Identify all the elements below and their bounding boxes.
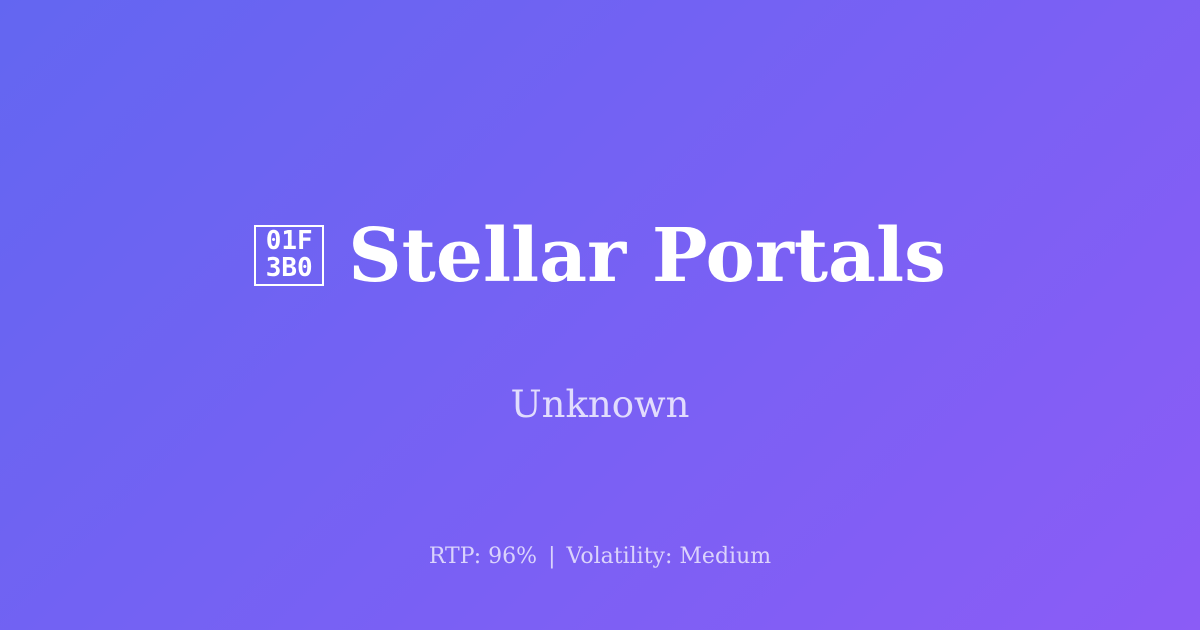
og-preview-card: 01F 3B0 Stellar Portals Unknown RTP: 96%…	[0, 0, 1200, 630]
page-title: Stellar Portals	[348, 219, 946, 293]
tofu-codepoint-bottom: 3B0	[266, 255, 313, 282]
game-stats-line: RTP: 96% | Volatility: Medium	[0, 546, 1200, 568]
stats-separator: |	[544, 544, 559, 569]
volatility-label: Volatility:	[567, 544, 673, 569]
provider-subtitle: Unknown	[510, 386, 689, 423]
slot-machine-emoji-icon: 01F 3B0	[254, 225, 324, 286]
tofu-codepoint-top: 01F	[266, 228, 313, 255]
title-row: 01F 3B0 Stellar Portals	[254, 169, 946, 342]
volatility-value: Medium	[679, 544, 771, 569]
rtp-value: 96%	[488, 544, 537, 569]
rtp-label: RTP:	[429, 544, 481, 569]
hero-block: 01F 3B0 Stellar Portals Unknown	[0, 0, 1200, 630]
